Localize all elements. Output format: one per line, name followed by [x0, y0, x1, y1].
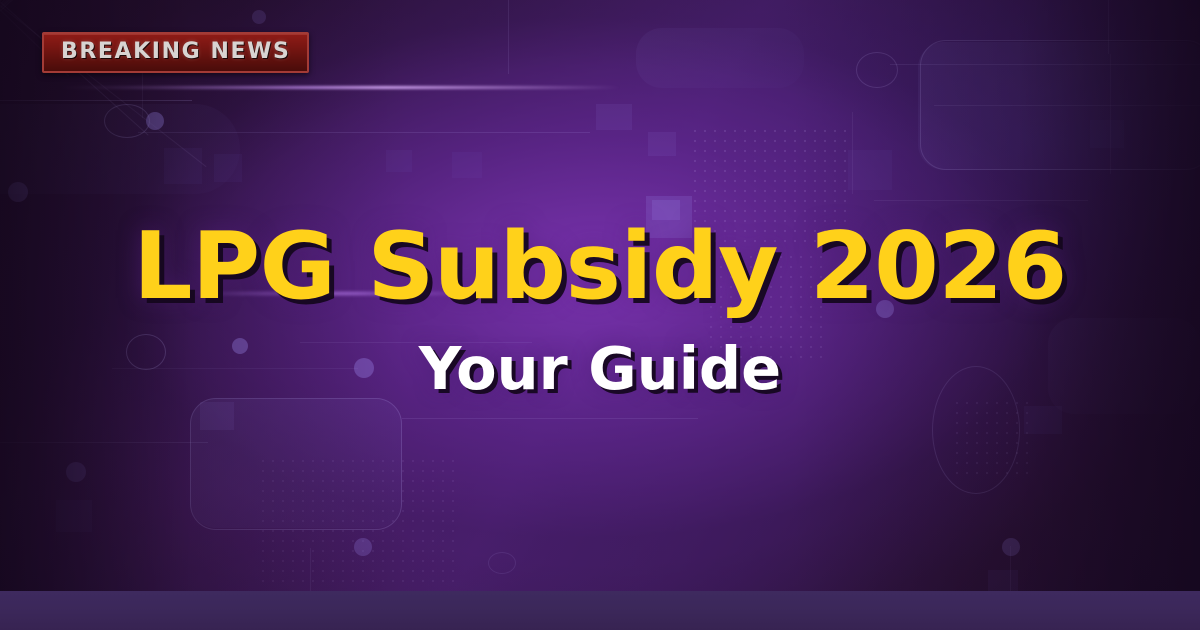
- node-dot: [252, 10, 266, 24]
- panel-shape: [918, 42, 1200, 170]
- circuit-line: [0, 100, 192, 101]
- square-shape: [214, 154, 242, 182]
- node-dot: [1002, 538, 1020, 556]
- panel-shape: [636, 28, 804, 88]
- circuit-line: [890, 64, 1200, 65]
- panel-outline-shape: [190, 398, 402, 530]
- square-shape: [848, 150, 892, 190]
- square-shape: [386, 150, 412, 172]
- square-shape: [200, 402, 234, 430]
- node-dot: [146, 112, 164, 130]
- page-subtitle: Your Guide: [0, 338, 1200, 400]
- diagonal-line: [0, 0, 84, 12]
- circuit-line: [402, 418, 698, 419]
- node-dot: [8, 182, 28, 202]
- diagonal-line: [0, 0, 139, 11]
- node-dot: [66, 462, 86, 482]
- diagonal-line: [0, 0, 216, 7]
- circuit-line: [138, 132, 590, 133]
- breaking-news-badge-label: BREAKING NEWS: [61, 41, 290, 63]
- breaking-news-badge: BREAKING NEWS: [42, 32, 309, 73]
- footer-bar: [0, 591, 1200, 630]
- circuit-line: [874, 200, 1088, 201]
- circuit-line: [142, 70, 143, 118]
- circuit-line: [1110, 54, 1111, 174]
- circuit-line: [1108, 0, 1109, 54]
- ring-shape: [488, 552, 516, 574]
- diagonal-line: [0, 0, 177, 1]
- panel-outline-shape: [920, 40, 1200, 170]
- square-shape: [452, 152, 482, 178]
- circuit-line: [508, 0, 509, 74]
- square-shape: [596, 104, 632, 130]
- square-shape: [56, 500, 92, 532]
- panel-shape: [0, 104, 240, 194]
- diagonal-line: [0, 0, 178, 5]
- circuit-line: [934, 105, 1200, 106]
- node-dot: [354, 538, 372, 556]
- headline-block: LPG Subsidy 2026 Your Guide: [0, 218, 1200, 400]
- square-shape: [1024, 406, 1062, 434]
- diagonal-line: [0, 0, 149, 8]
- page-title: LPG Subsidy 2026: [0, 218, 1200, 316]
- square-shape: [1090, 120, 1124, 148]
- circuit-line: [852, 112, 853, 194]
- square-shape: [164, 148, 202, 184]
- diagonal-line: [0, 0, 53, 9]
- dot-grid-pattern: [258, 456, 454, 590]
- square-shape: [648, 132, 676, 156]
- panel-shape: [190, 398, 402, 528]
- circuit-line: [0, 442, 208, 443]
- ring-shape: [856, 52, 898, 88]
- dot-grid-pattern: [952, 398, 1028, 482]
- diagonal-line: [0, 5, 206, 167]
- breaking-news-banner: BREAKING NEWS LPG Subsidy 2026 Your Guid…: [0, 0, 1200, 630]
- ring-shape: [104, 104, 150, 138]
- glow-streak: [60, 86, 620, 89]
